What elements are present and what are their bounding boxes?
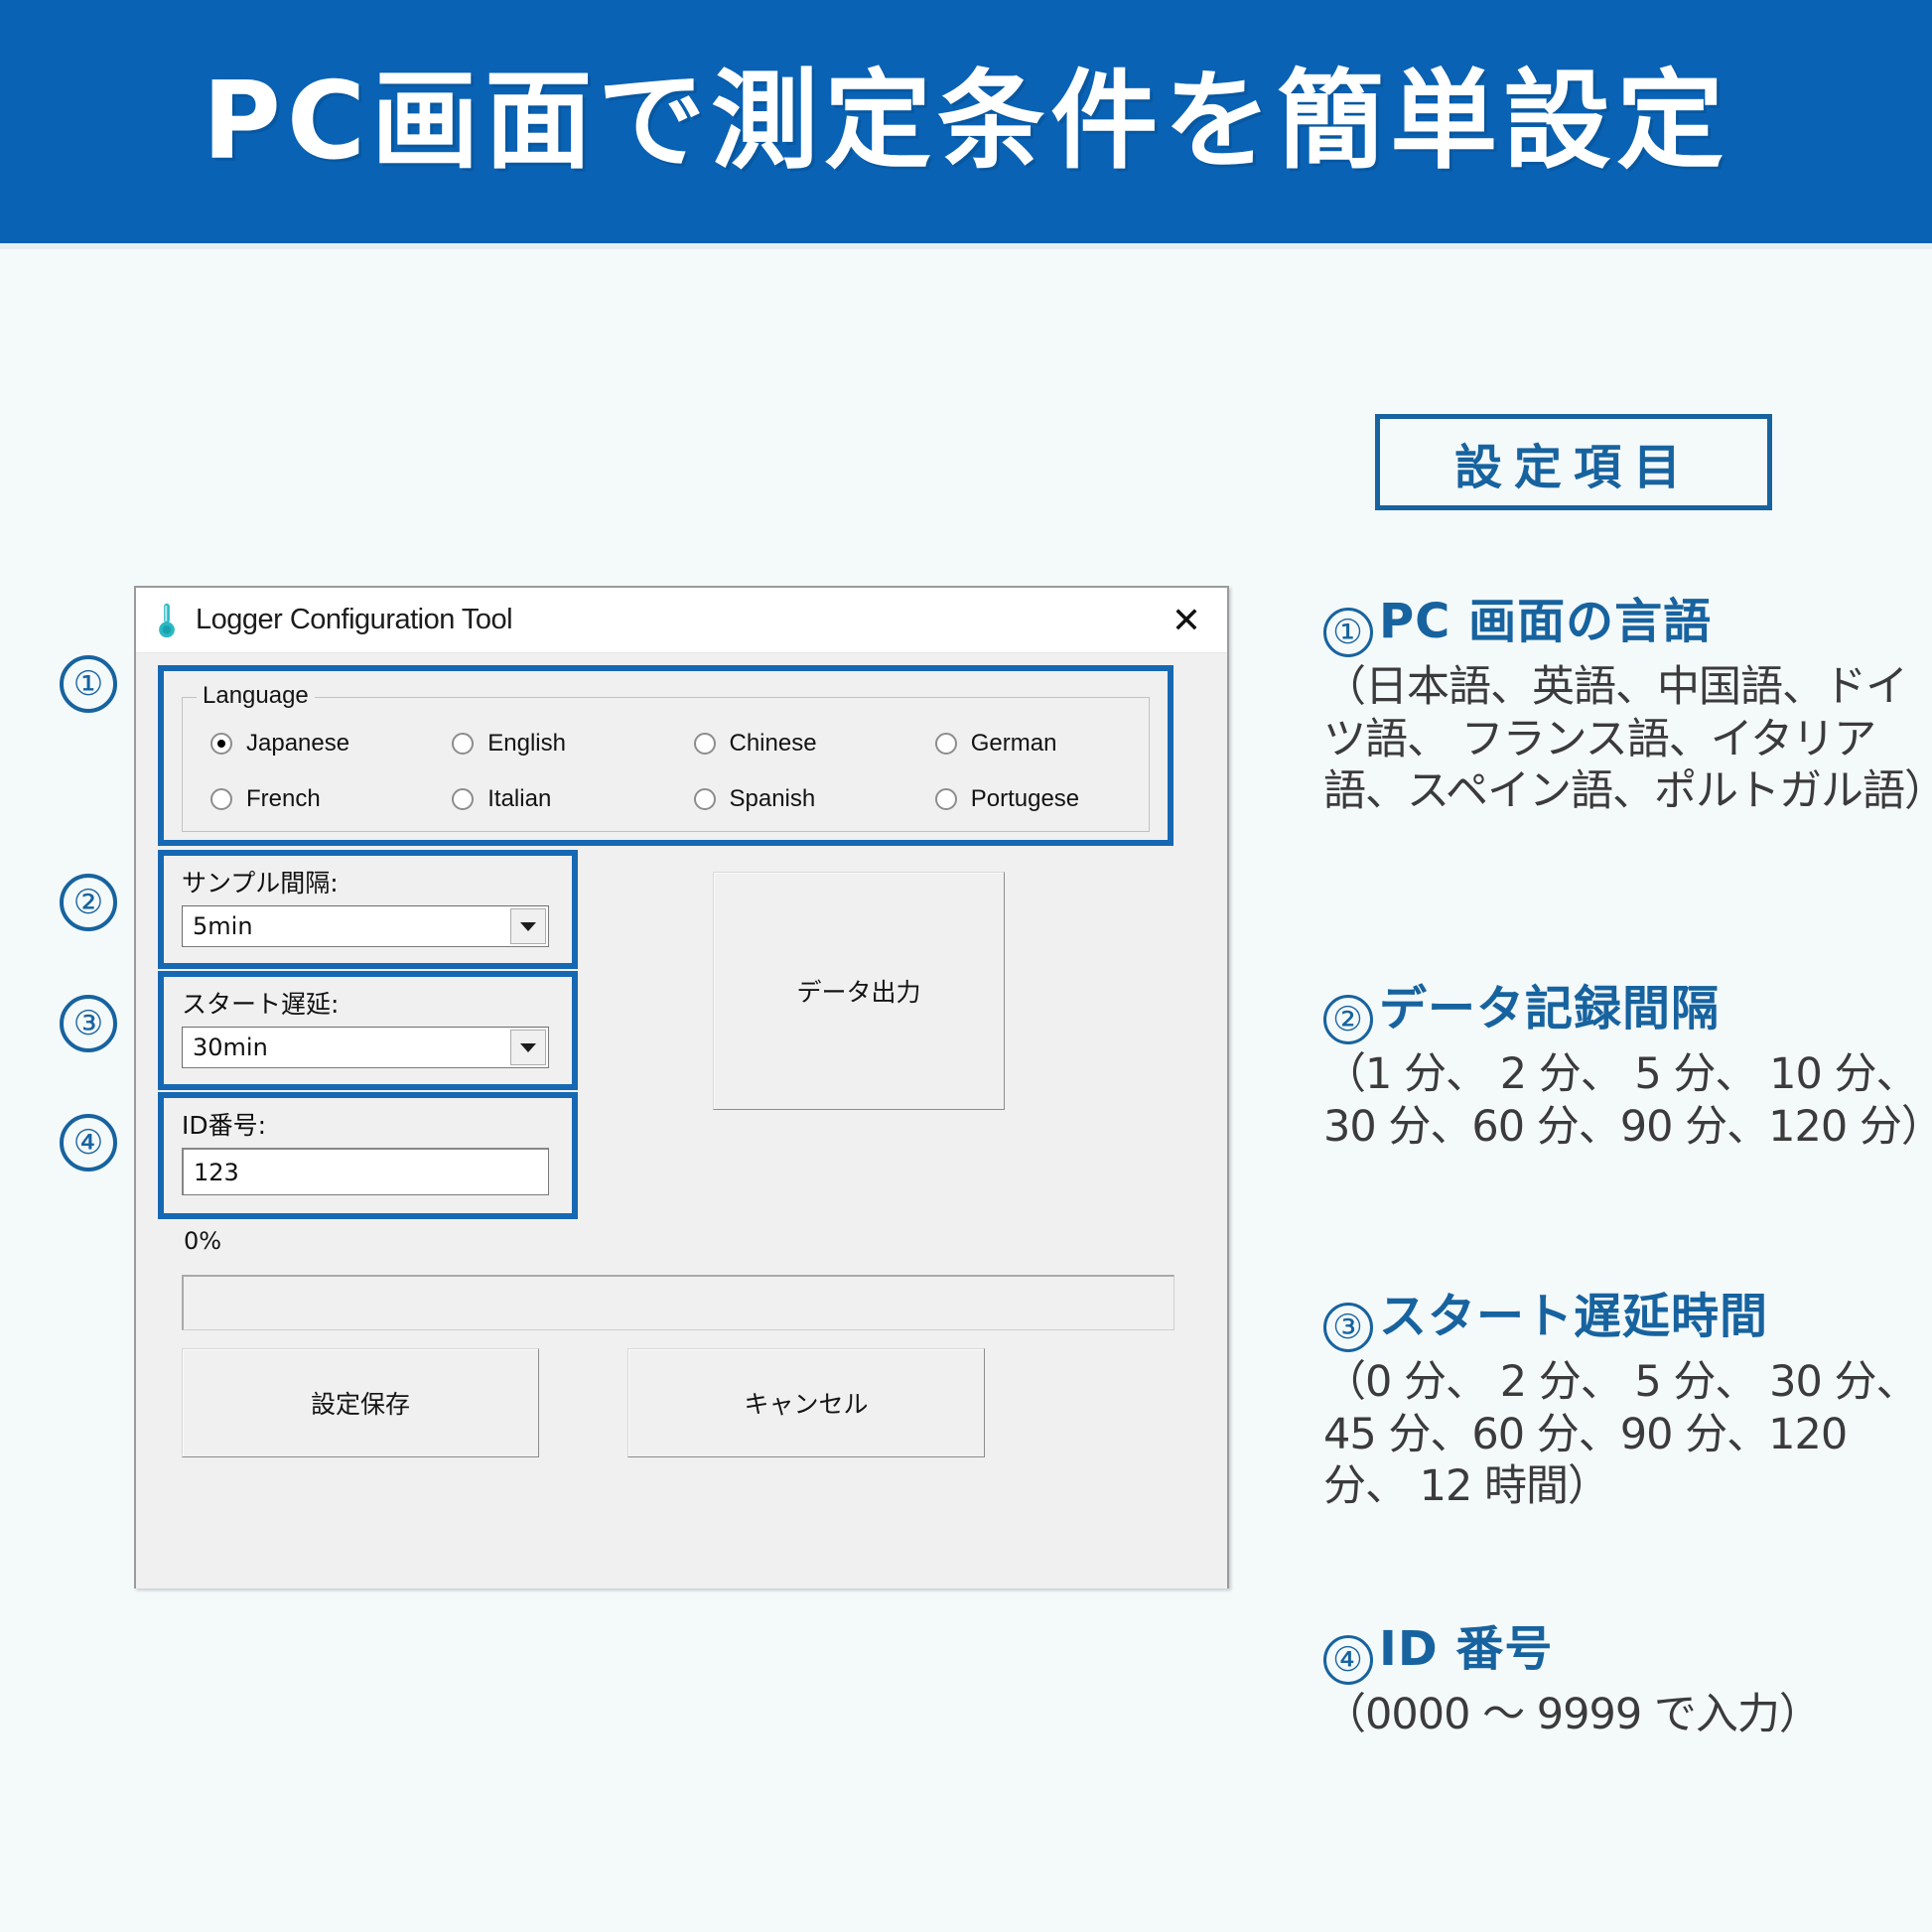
data-output-button[interactable]: データ出力 — [713, 872, 1005, 1110]
cancel-button[interactable]: キャンセル — [627, 1348, 985, 1457]
section-4-title: ④ ID 番号 — [1323, 1623, 1931, 1679]
id-number-label: ID番号: — [182, 1106, 549, 1142]
radio-chinese[interactable]: Chinese — [666, 730, 907, 758]
section-3-title-text: スタート遅延時間 — [1379, 1291, 1768, 1344]
header-divider — [0, 243, 1932, 249]
dialog-titlebar: Logger Configuration Tool ✕ — [136, 588, 1227, 653]
section-1-number: ① — [1323, 608, 1373, 657]
radio-portugese[interactable]: Portugese — [907, 785, 1149, 813]
progress-bar — [182, 1275, 1174, 1330]
section-3: ③ スタート遅延時間 （0 分、 2 分、 5 分、 30 分、45 分、60 … — [1323, 1291, 1931, 1512]
radio-german-label: German — [971, 730, 1057, 758]
radio-chinese-label: Chinese — [730, 730, 817, 758]
id-number-field: ID番号: 123 — [182, 1106, 549, 1195]
section-3-title: ③ スタート遅延時間 — [1323, 1291, 1931, 1346]
radio-english-label: English — [487, 730, 566, 758]
section-2-title-text: データ記録間隔 — [1379, 983, 1720, 1036]
section-2-body: （1 分、 2 分、 5 分、 10 分、30 分、60 分、90 分、120 … — [1323, 1048, 1931, 1153]
panel-badge: 設定項目 — [1375, 414, 1772, 510]
radio-italian-icon — [452, 788, 474, 810]
sample-interval-label: サンプル間隔: — [182, 864, 549, 899]
page-title: PC画面で測定条件を簡単設定 — [203, 69, 1729, 176]
progress-label: 0% — [184, 1227, 221, 1255]
section-1-title-text: PC 画面の言語 — [1379, 596, 1712, 649]
radio-japanese[interactable]: Japanese — [183, 730, 424, 758]
sample-interval-field: サンプル間隔: 5min — [182, 864, 549, 947]
radio-italian[interactable]: Italian — [424, 785, 665, 813]
close-icon[interactable]: ✕ — [1164, 598, 1209, 643]
radio-portugese-label: Portugese — [971, 785, 1079, 813]
start-delay-field: スタート遅延: 30min — [182, 985, 549, 1068]
radio-italian-label: Italian — [487, 785, 551, 813]
section-1: ① PC 画面の言語 （日本語、英語、中国語、ドイツ語、 フランス語、イタリア語… — [1323, 596, 1931, 817]
chevron-down-icon[interactable] — [510, 908, 546, 944]
radio-french-icon — [210, 788, 232, 810]
chevron-down-icon[interactable] — [510, 1030, 546, 1065]
radio-german[interactable]: German — [907, 730, 1149, 758]
dialog-title: Logger Configuration Tool — [196, 604, 512, 636]
sample-interval-value: 5min — [183, 912, 253, 940]
language-groupbox: Language Japanese English Chinese — [182, 697, 1150, 832]
sample-interval-select[interactable]: 5min — [182, 905, 549, 947]
section-4-title-text: ID 番号 — [1379, 1623, 1553, 1677]
language-group-legend: Language — [197, 682, 315, 710]
section-1-body: （日本語、英語、中国語、ドイツ語、 フランス語、イタリア語、スペイン語、ポルトガ… — [1323, 661, 1931, 817]
radio-chinese-icon — [694, 733, 716, 755]
logger-configuration-dialog: Logger Configuration Tool ✕ Language Jap… — [134, 586, 1229, 1588]
section-2: ② データ記録間隔 （1 分、 2 分、 5 分、 10 分、30 分、60 分… — [1323, 983, 1931, 1153]
start-delay-label: スタート遅延: — [182, 985, 549, 1021]
section-4-body: （0000 〜 9999 で入力） — [1323, 1689, 1931, 1740]
radio-french-label: French — [246, 785, 321, 813]
radio-japanese-icon — [210, 733, 232, 755]
radio-portugese-icon — [935, 788, 957, 810]
section-2-number: ② — [1323, 995, 1373, 1044]
section-4: ④ ID 番号 （0000 〜 9999 で入力） — [1323, 1623, 1931, 1741]
radio-spanish[interactable]: Spanish — [666, 785, 907, 813]
radio-japanese-label: Japanese — [246, 730, 349, 758]
save-settings-button[interactable]: 設定保存 — [182, 1348, 539, 1457]
radio-french[interactable]: French — [183, 785, 424, 813]
section-2-title: ② データ記録間隔 — [1323, 983, 1931, 1038]
section-1-title: ① PC 画面の言語 — [1323, 596, 1931, 651]
radio-english[interactable]: English — [424, 730, 665, 758]
thermometer-icon — [152, 601, 182, 640]
marker-3: ③ — [60, 995, 117, 1052]
header-banner: PC画面で測定条件を簡単設定 — [0, 0, 1932, 243]
section-3-body: （0 分、 2 分、 5 分、 30 分、45 分、60 分、90 分、120 … — [1323, 1356, 1931, 1512]
radio-spanish-icon — [694, 788, 716, 810]
marker-1: ① — [60, 655, 117, 713]
marker-4: ④ — [60, 1114, 117, 1172]
radio-english-icon — [452, 733, 474, 755]
page-root: PC画面で測定条件を簡単設定 ① ② ③ ④ Logger Configurat… — [0, 0, 1932, 1932]
section-4-number: ④ — [1323, 1635, 1373, 1685]
language-radio-row-2: French Italian Spanish Portugese — [183, 785, 1149, 813]
radio-german-icon — [935, 733, 957, 755]
language-radio-row-1: Japanese English Chinese German — [183, 730, 1149, 758]
section-3-number: ③ — [1323, 1303, 1373, 1352]
start-delay-select[interactable]: 30min — [182, 1027, 549, 1068]
id-number-value: 123 — [184, 1159, 239, 1186]
marker-2: ② — [60, 874, 117, 931]
radio-spanish-label: Spanish — [730, 785, 816, 813]
start-delay-value: 30min — [183, 1034, 268, 1061]
dialog-body: Language Japanese English Chinese — [136, 653, 1227, 1588]
id-number-input[interactable]: 123 — [182, 1148, 549, 1195]
